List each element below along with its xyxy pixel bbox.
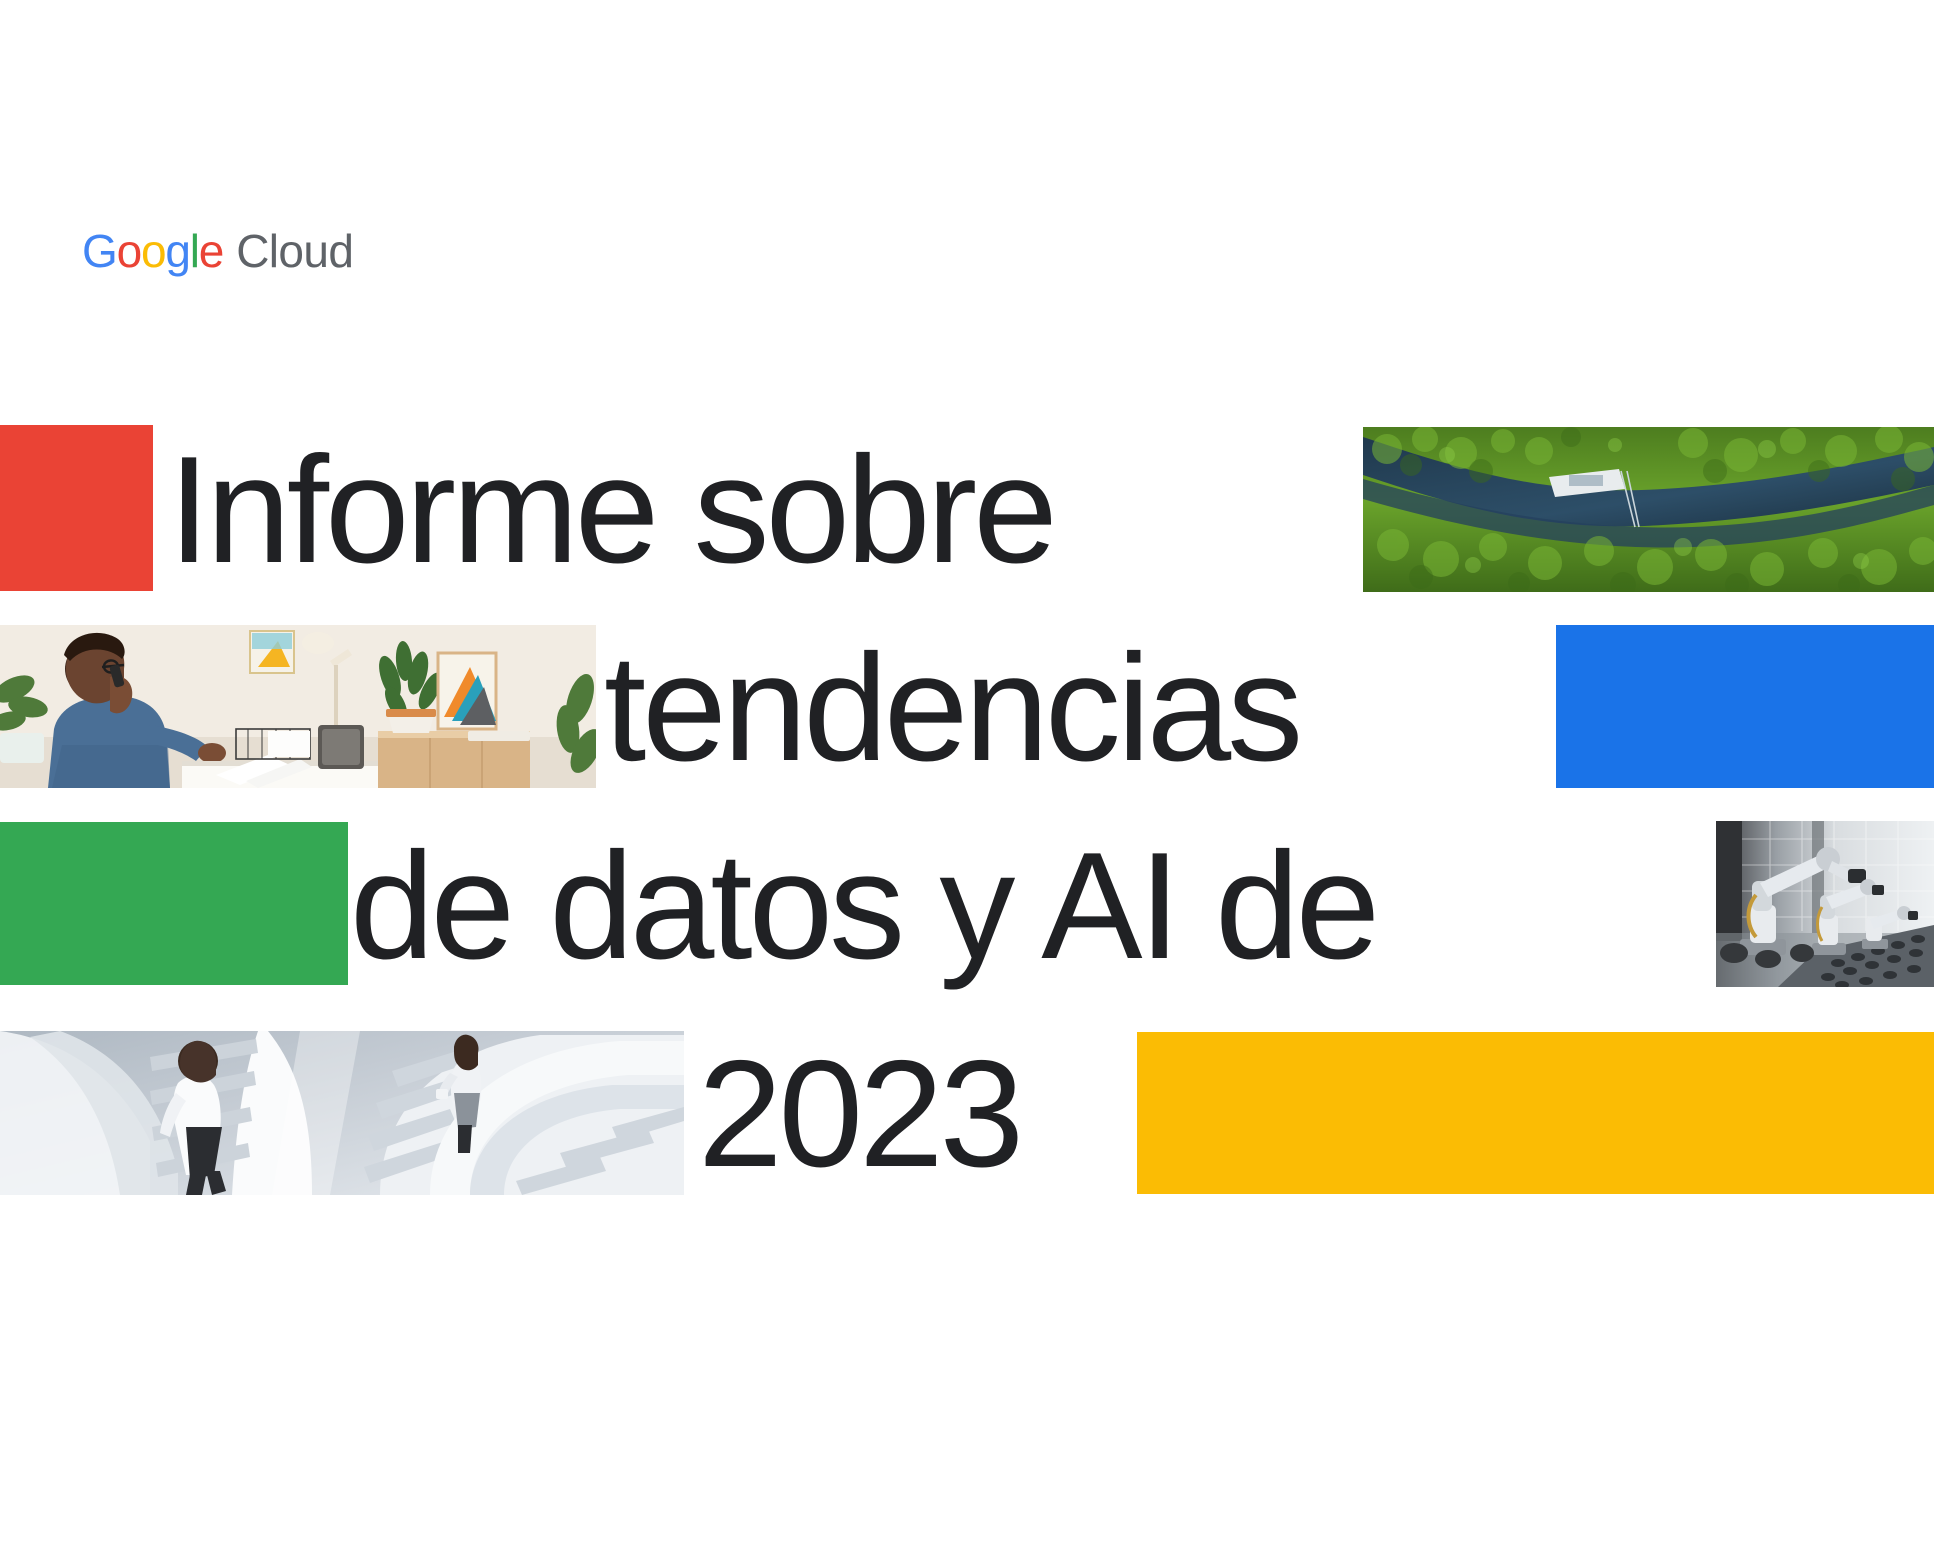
red-block <box>0 425 153 591</box>
title-line-3: de datos y AI de <box>350 830 1376 982</box>
aerial-forest-road-photo <box>1363 427 1934 592</box>
blue-block <box>1556 625 1934 788</box>
title-line-1: Informe sobre <box>168 434 1054 586</box>
cloud-wordmark: Cloud <box>236 228 353 274</box>
slide-canvas: Google Cloud <box>0 0 1934 1563</box>
google-cloud-logo: Google Cloud <box>82 228 353 274</box>
man-on-phone-at-desk-photo <box>0 625 596 788</box>
green-block <box>0 822 348 985</box>
logo-letter-l: l <box>190 228 199 274</box>
logo-letter-e: e <box>199 228 223 274</box>
industrial-robot-arms-photo <box>1716 821 1934 987</box>
title-line-2: tendencias <box>604 632 1299 784</box>
yellow-block <box>1137 1032 1934 1194</box>
logo-letter-o1: o <box>117 228 141 274</box>
title-line-4: 2023 <box>698 1038 1020 1190</box>
logo-letter-g1: G <box>82 228 117 274</box>
logo-letter-o2: o <box>141 228 165 274</box>
spiral-staircase-photo <box>0 1031 684 1195</box>
google-wordmark: Google <box>82 228 223 274</box>
logo-letter-g2: g <box>165 228 189 274</box>
